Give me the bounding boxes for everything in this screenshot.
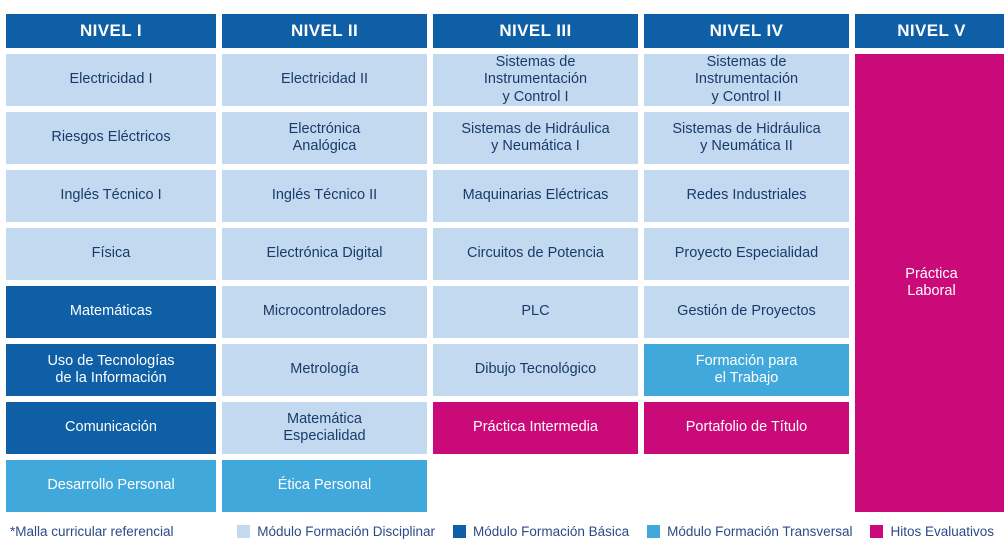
course-label: Riesgos Eléctricos (51, 129, 170, 146)
legend-label-disciplinar: Módulo Formación Disciplinar (257, 524, 435, 539)
course-label: Inglés Técnico II (272, 187, 377, 204)
course-cell-metrologia[interactable]: Metrología (222, 344, 427, 396)
legend-label-hitos: Hitos Evaluativos (890, 524, 994, 539)
course-cell-comunicacion[interactable]: Comunicación (6, 402, 216, 454)
course-label: Comunicación (65, 419, 157, 436)
course-cell-empty (433, 460, 638, 512)
legend-swatch-disciplinar (237, 525, 250, 538)
course-label: Sistemas de Hidráulicay Neumática I (461, 121, 609, 155)
legend-swatch-basica (453, 525, 466, 538)
legend-item-basica: Módulo Formación Básica (453, 524, 629, 539)
course-cell-formacion-para-el-trabajo[interactable]: Formación parael Trabajo (644, 344, 849, 396)
column-header-nivel-5: NIVEL V (855, 14, 1004, 48)
course-label: MatemáticaEspecialidad (283, 411, 365, 445)
course-cell-ingles-tecnico-i[interactable]: Inglés Técnico I (6, 170, 216, 222)
course-cell-circuitos-de-potencia[interactable]: Circuitos de Potencia (433, 228, 638, 280)
course-label: Metrología (290, 361, 359, 378)
course-label: Inglés Técnico I (60, 187, 161, 204)
course-label: Física (92, 245, 131, 262)
course-label: Formación parael Trabajo (696, 353, 798, 387)
course-cell-matematica-especialidad[interactable]: MatemáticaEspecialidad (222, 402, 427, 454)
course-label: Electrónica Digital (266, 245, 382, 262)
legend-label-transversal: Módulo Formación Transversal (667, 524, 852, 539)
course-label: Dibujo Tecnológico (475, 361, 596, 378)
course-cell-empty (644, 460, 849, 512)
course-cell-gestion-de-proyectos[interactable]: Gestión de Proyectos (644, 286, 849, 338)
course-cell-electronica-analogica[interactable]: ElectrónicaAnalógica (222, 112, 427, 164)
column-header-nivel-2: NIVEL II (222, 14, 427, 48)
legend-swatch-hitos (870, 525, 883, 538)
course-label: Desarrollo Personal (47, 477, 174, 494)
course-label: Circuitos de Potencia (467, 245, 604, 262)
legend-swatch-transversal (647, 525, 660, 538)
column-header-nivel-1: NIVEL I (6, 14, 216, 48)
course-cell-microcontroladores[interactable]: Microcontroladores (222, 286, 427, 338)
course-cell-sistemas-de-hidraulica-y-neumatica-i[interactable]: Sistemas de Hidráulicay Neumática I (433, 112, 638, 164)
course-label: Microcontroladores (263, 303, 386, 320)
curriculum-grid-page: NIVEL I NIVEL II NIVEL III NIVEL IV NIVE… (0, 0, 1004, 556)
course-cell-portafolio-de-titulo[interactable]: Portafolio de Título (644, 402, 849, 454)
course-label: Electricidad I (69, 71, 152, 88)
course-cell-practica-laboral[interactable]: PrácticaLaboral (855, 54, 1004, 512)
course-label: Sistemas de Hidráulicay Neumática II (672, 121, 820, 155)
course-cell-sistemas-de-instrumentacion-y-control-ii[interactable]: Sistemas deInstrumentacióny Control II (644, 54, 849, 106)
course-cell-proyecto-especialidad[interactable]: Proyecto Especialidad (644, 228, 849, 280)
course-label: Gestión de Proyectos (677, 303, 816, 320)
course-label: Sistemas deInstrumentacióny Control I (484, 54, 587, 105)
course-label: Sistemas deInstrumentacióny Control II (695, 54, 798, 105)
course-label: PLC (521, 303, 549, 320)
course-label: Portafolio de Título (686, 419, 807, 436)
course-cell-sistemas-de-instrumentacion-y-control-i[interactable]: Sistemas deInstrumentacióny Control I (433, 54, 638, 106)
course-label: Práctica Intermedia (473, 419, 598, 436)
course-cell-matematicas[interactable]: Matemáticas (6, 286, 216, 338)
course-cell-etica-personal[interactable]: Ética Personal (222, 460, 427, 512)
course-cell-electricidad-ii[interactable]: Electricidad II (222, 54, 427, 106)
course-label: Maquinarias Eléctricas (463, 187, 609, 204)
legend-item-transversal: Módulo Formación Transversal (647, 524, 852, 539)
course-label: ElectrónicaAnalógica (289, 121, 361, 155)
course-cell-dibujo-tecnologico[interactable]: Dibujo Tecnológico (433, 344, 638, 396)
course-label: PrácticaLaboral (905, 266, 957, 301)
course-label: Redes Industriales (686, 187, 806, 204)
course-label: Uso de Tecnologíasde la Información (47, 353, 174, 387)
course-cell-fisica[interactable]: Física (6, 228, 216, 280)
column-header-nivel-3: NIVEL III (433, 14, 638, 48)
legend-item-disciplinar: Módulo Formación Disciplinar (237, 524, 435, 539)
legend-label-basica: Módulo Formación Básica (473, 524, 629, 539)
course-label: Matemáticas (70, 303, 152, 320)
course-cell-riesgos-electricos[interactable]: Riesgos Eléctricos (6, 112, 216, 164)
course-cell-ingles-tecnico-ii[interactable]: Inglés Técnico II (222, 170, 427, 222)
course-cell-practica-intermedia[interactable]: Práctica Intermedia (433, 402, 638, 454)
course-cell-electronica-digital[interactable]: Electrónica Digital (222, 228, 427, 280)
course-label: Proyecto Especialidad (675, 245, 818, 262)
legend-item-hitos: Hitos Evaluativos (870, 524, 994, 539)
course-cell-redes-industriales[interactable]: Redes Industriales (644, 170, 849, 222)
course-cell-desarrollo-personal[interactable]: Desarrollo Personal (6, 460, 216, 512)
curriculum-grid: NIVEL I NIVEL II NIVEL III NIVEL IV NIVE… (6, 14, 998, 512)
footnote: *Malla curricular referencial (10, 524, 174, 539)
footer: *Malla curricular referencial Módulo For… (6, 524, 998, 539)
course-label: Electricidad II (281, 71, 368, 88)
course-cell-plc[interactable]: PLC (433, 286, 638, 338)
course-cell-uso-de-tecnologias-de-la-informacion[interactable]: Uso de Tecnologíasde la Información (6, 344, 216, 396)
legend: Módulo Formación Disciplinar Módulo Form… (237, 524, 998, 539)
course-cell-electricidad-i[interactable]: Electricidad I (6, 54, 216, 106)
course-cell-sistemas-de-hidraulica-y-neumatica-ii[interactable]: Sistemas de Hidráulicay Neumática II (644, 112, 849, 164)
column-header-nivel-4: NIVEL IV (644, 14, 849, 48)
course-cell-maquinarias-electricas[interactable]: Maquinarias Eléctricas (433, 170, 638, 222)
course-label: Ética Personal (278, 477, 372, 494)
